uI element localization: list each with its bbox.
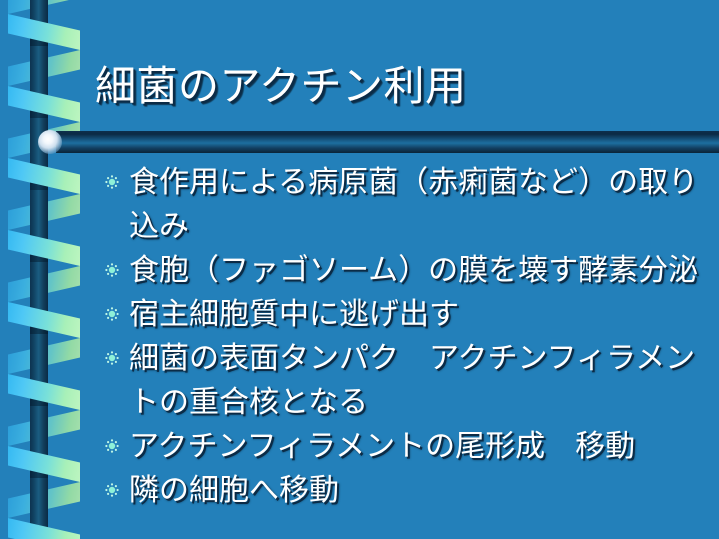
ring-dot-bullet-icon — [105, 350, 119, 364]
ring-dot-bullet-icon — [105, 262, 119, 276]
ring-dot-bullet-icon — [105, 438, 119, 452]
ribbon-decoration — [0, 0, 86, 539]
list-item-label: 食胞（ファゴソーム）の膜を壊す酵素分泌 — [129, 249, 713, 293]
list-item-label: アクチンフィラメントの尾形成 移動 — [129, 425, 713, 469]
list-item: 食胞（ファゴソーム）の膜を壊す酵素分泌 — [101, 249, 713, 293]
list-item: 食作用による病原菌（赤痢菌など）の取り込み — [101, 161, 713, 249]
presentation-slide: 細菌のアクチン利用 — [0, 0, 719, 539]
glow-sphere-icon — [38, 130, 62, 154]
list-item-label: 隣の細胞へ移動 — [129, 469, 713, 513]
slide-title: 細菌のアクチン利用 — [95, 58, 685, 114]
list-item-label: 宿主細胞質中に逃げ出す — [129, 293, 713, 337]
list-item: 隣の細胞へ移動 — [101, 469, 713, 513]
list-item: 宿主細胞質中に逃げ出す — [101, 293, 713, 337]
ring-dot-bullet-icon — [105, 174, 119, 188]
list-item-label: 細菌の表面タンパク アクチンフィラメントの重合核となる — [129, 337, 713, 425]
list-item: 細菌の表面タンパク アクチンフィラメントの重合核となる — [101, 337, 713, 425]
title-divider-bar — [56, 131, 719, 153]
ring-dot-bullet-icon — [105, 306, 119, 320]
ring-dot-bullet-icon — [105, 482, 119, 496]
list-item: アクチンフィラメントの尾形成 移動 — [101, 425, 713, 469]
list-item-label: 食作用による病原菌（赤痢菌など）の取り込み — [129, 161, 713, 249]
slide-body: 食作用による病原菌（赤痢菌など）の取り込み — [101, 161, 713, 513]
